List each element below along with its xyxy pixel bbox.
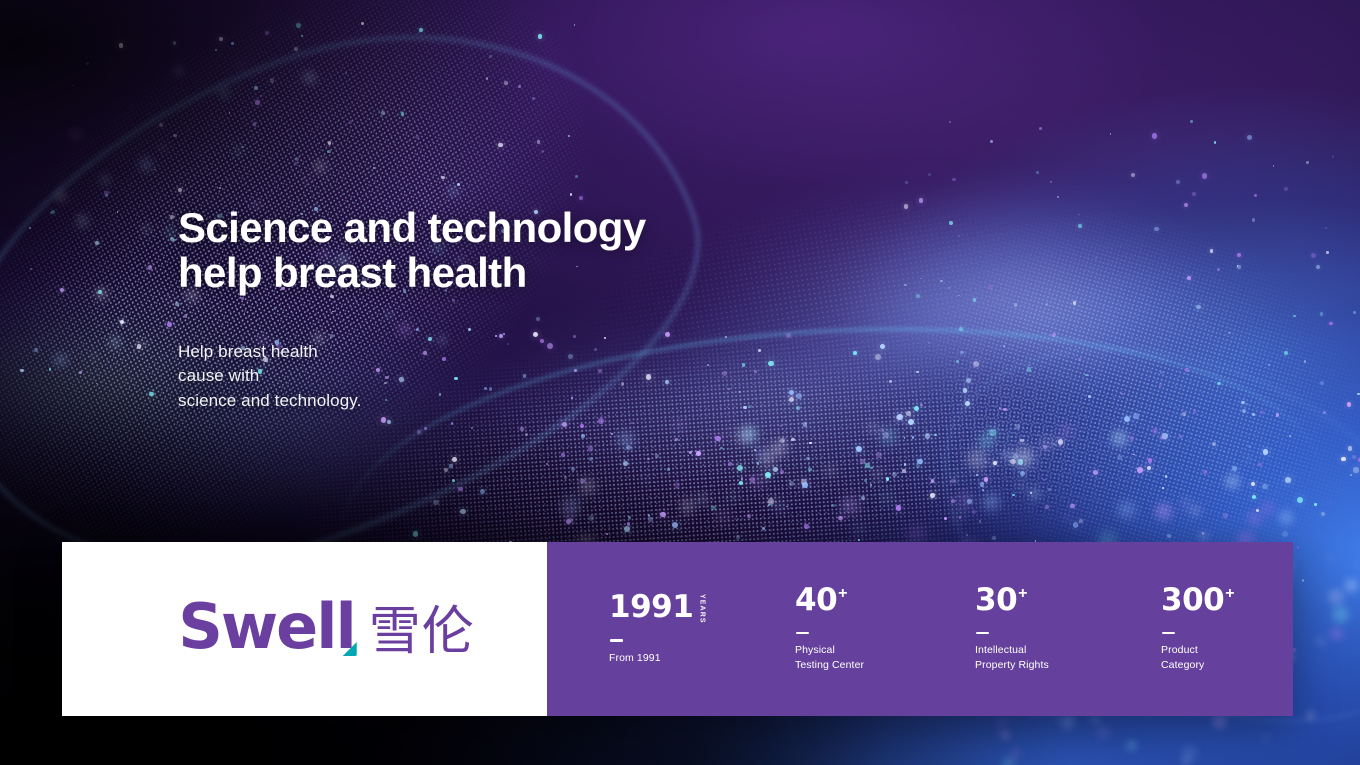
stat-suffix: + bbox=[1225, 586, 1234, 602]
hero-text-block: Science and technology help breast healt… bbox=[178, 206, 798, 413]
stat-divider-dash bbox=[976, 632, 989, 635]
stat-item-years: 1991 YEARS From 1991 bbox=[609, 592, 727, 666]
slide-canvas: Science and technology help breast healt… bbox=[0, 0, 1360, 765]
stat-value-row: 40 + bbox=[795, 585, 907, 616]
stat-label: Intellectual Property Rights bbox=[975, 643, 1093, 673]
stat-label: Product Category bbox=[1161, 643, 1235, 673]
stat-item-product-category: 300 + Product Category bbox=[1161, 585, 1235, 674]
stat-suffix: + bbox=[1018, 586, 1027, 602]
stat-label: From 1991 bbox=[609, 651, 727, 666]
brand-logo[interactable]: Swell 雪伦 bbox=[178, 596, 475, 658]
stat-value-row: 1991 YEARS bbox=[609, 592, 727, 624]
logo-chinese-name: 雪伦 bbox=[369, 606, 475, 658]
stat-vertical-tag: YEARS bbox=[698, 594, 705, 624]
stat-divider-dash bbox=[796, 632, 809, 635]
logo-wordmark-group: Swell bbox=[178, 596, 354, 658]
page-title: Science and technology help breast healt… bbox=[178, 206, 798, 296]
stat-value: 1991 bbox=[609, 592, 693, 623]
bottom-bar: Swell 雪伦 1991 YEARS From 1991 40 + bbox=[62, 542, 1293, 716]
stat-suffix: + bbox=[838, 586, 847, 602]
stat-divider-dash bbox=[610, 639, 623, 642]
logo-wordmark: Swell bbox=[178, 590, 354, 663]
logo-panel[interactable]: Swell 雪伦 bbox=[62, 542, 547, 716]
stat-value: 300 bbox=[1161, 585, 1224, 616]
stat-item-testing-center: 40 + Physical Testing Center bbox=[795, 585, 907, 674]
stat-value: 30 bbox=[975, 585, 1017, 616]
stat-label: Physical Testing Center bbox=[795, 643, 907, 673]
stat-value-row: 300 + bbox=[1161, 585, 1235, 616]
hero-subtext: Help breast health cause with science an… bbox=[178, 340, 798, 413]
stat-divider-dash bbox=[1162, 632, 1175, 635]
stat-value: 40 bbox=[795, 585, 837, 616]
stat-value-row: 30 + bbox=[975, 585, 1093, 616]
stat-item-ip-rights: 30 + Intellectual Property Rights bbox=[975, 585, 1093, 674]
stats-panel: 1991 YEARS From 1991 40 + Physical Testi… bbox=[547, 542, 1293, 716]
